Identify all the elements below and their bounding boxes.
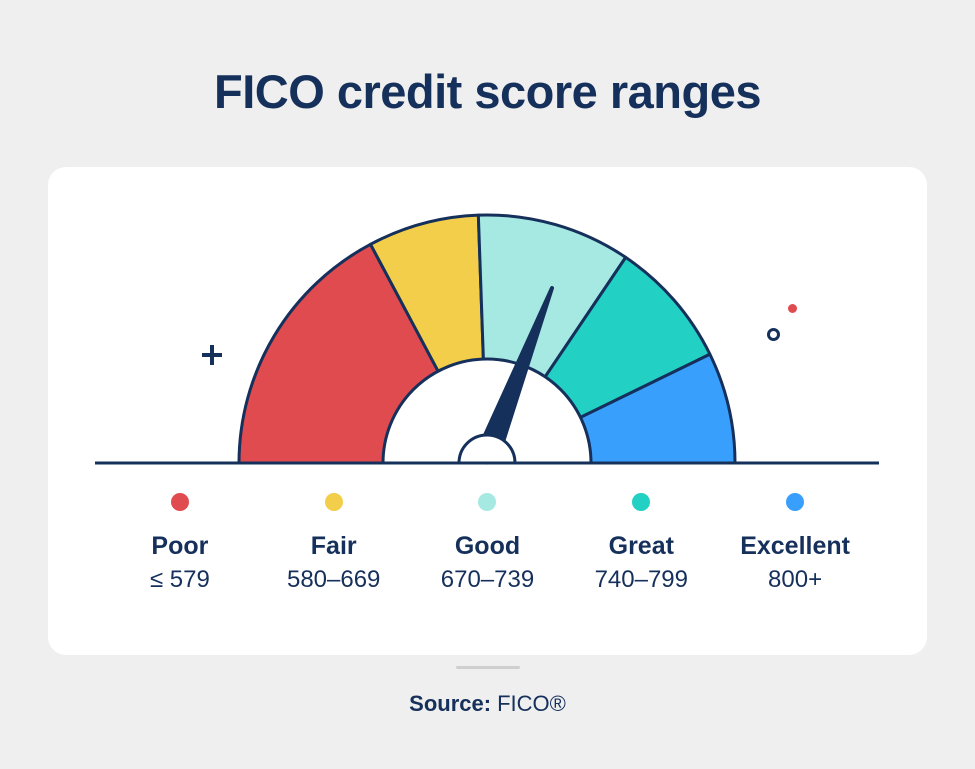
- legend-dot-fair: [325, 493, 343, 511]
- legend-label-great: Great: [564, 531, 718, 562]
- legend-item-great[interactable]: Great 740–799: [564, 493, 718, 597]
- legend-dot-great: [632, 493, 650, 511]
- legend-item-poor[interactable]: Poor ≤ 579: [103, 493, 257, 597]
- dot-icon: [788, 304, 797, 313]
- source-value: FICO®: [497, 691, 566, 716]
- plus-icon: [202, 345, 222, 365]
- legend-item-good[interactable]: Good 670–739: [411, 493, 565, 597]
- legend-range-poor: ≤ 579: [103, 564, 257, 596]
- legend-dot-poor: [171, 493, 189, 511]
- source-line: Source:FICO®: [0, 691, 975, 717]
- legend-item-excellent[interactable]: Excellent 800+: [718, 493, 872, 597]
- legend-range-fair: 580–669: [257, 564, 411, 596]
- legend-item-fair[interactable]: Fair 580–669: [257, 493, 411, 597]
- legend-label-excellent: Excellent: [718, 531, 872, 562]
- legend-label-fair: Fair: [257, 531, 411, 562]
- legend-dot-excellent: [786, 493, 804, 511]
- footer-divider: [456, 666, 520, 669]
- legend-dot-good: [478, 493, 496, 511]
- legend-label-poor: Poor: [103, 531, 257, 562]
- source-label: Source:: [409, 691, 491, 716]
- legend: Poor ≤ 579 Fair 580–669 Good 670–739 Gre…: [48, 493, 927, 597]
- gauge-svg: [48, 167, 927, 507]
- legend-range-great: 740–799: [564, 564, 718, 596]
- ring-icon: [767, 328, 780, 341]
- legend-range-excellent: 800+: [718, 564, 872, 596]
- legend-range-good: 670–739: [411, 564, 565, 596]
- legend-label-good: Good: [411, 531, 565, 562]
- chart-card: Poor ≤ 579 Fair 580–669 Good 670–739 Gre…: [48, 167, 927, 655]
- page-title: FICO credit score ranges: [0, 64, 975, 119]
- footer: Source:FICO®: [0, 666, 975, 717]
- gauge-chart: Poor ≤ 579 Fair 580–669 Good 670–739 Gre…: [48, 167, 927, 655]
